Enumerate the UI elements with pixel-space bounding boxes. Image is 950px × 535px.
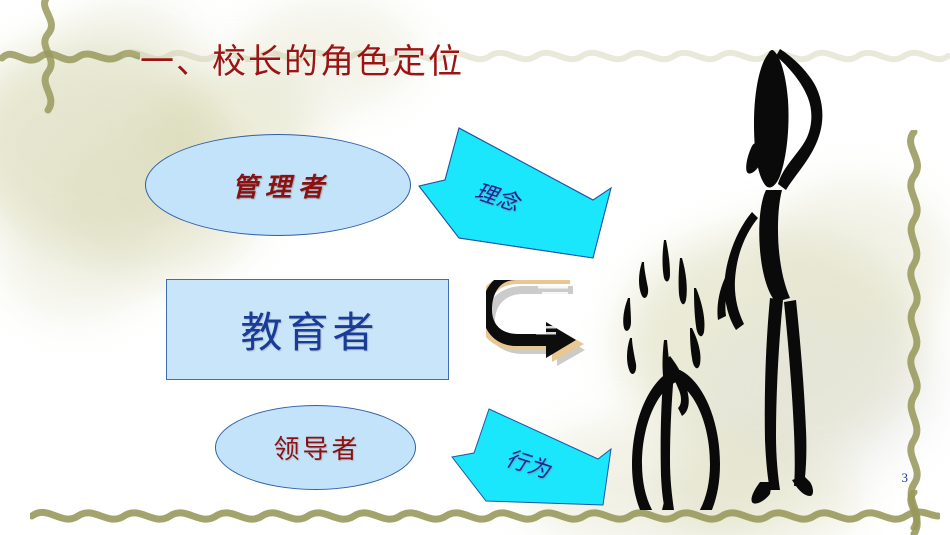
page-number: 3 <box>902 470 909 486</box>
decorative-wave-top-left <box>0 40 140 72</box>
slide-canvas: 一、校长的角色定位 管理者 教育者 领导者 理念 行为 <box>0 0 950 535</box>
arrow-loop-shape <box>486 280 598 370</box>
decorative-wave-corner-cross <box>898 490 930 535</box>
artwork-silhouette-figures <box>620 40 850 510</box>
shape-educator-rectangle[interactable]: 教育者 <box>166 279 449 380</box>
shape-manager-ellipse[interactable]: 管理者 <box>145 134 411 236</box>
shape-educator-label: 教育者 <box>236 299 378 360</box>
arrow-idea-chevron[interactable]: 理念 <box>415 118 615 263</box>
decorative-wave-left-vertical <box>32 0 64 114</box>
arrow-loop-uturn[interactable] <box>486 280 598 370</box>
shape-leader-ellipse[interactable]: 领导者 <box>215 405 416 490</box>
silhouette-figures-shape <box>620 40 850 510</box>
arrow-behavior-chevron[interactable]: 行为 <box>448 405 638 515</box>
shape-manager-label: 管理者 <box>225 167 331 204</box>
page-title: 一、校长的角色定位 <box>140 44 464 81</box>
shape-leader-label: 领导者 <box>270 429 360 466</box>
